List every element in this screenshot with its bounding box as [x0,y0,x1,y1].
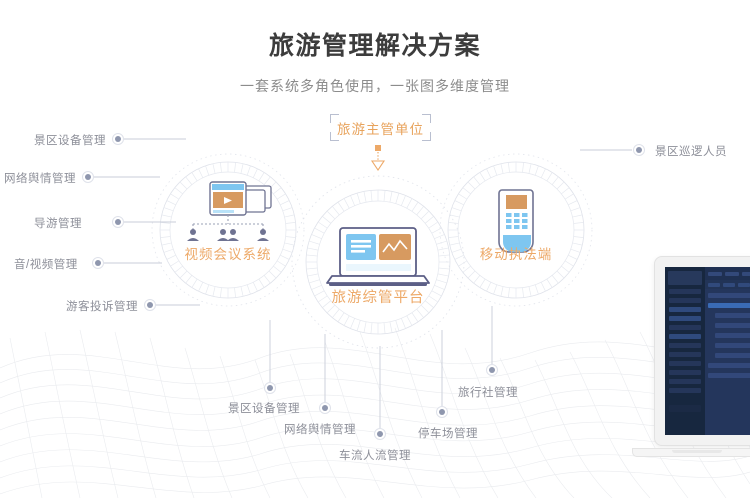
tree-row[interactable] [708,373,750,378]
dashboard-logo [668,271,702,285]
laptop-dashboard-icon [327,228,429,286]
dashboard-body [705,289,750,435]
bottom-connectors [270,306,492,428]
dashboard-menu-item[interactable] [669,379,701,384]
dashboard-filter-bar [705,280,750,289]
spoke-bottom-3[interactable]: 车流人流管理 [339,447,411,463]
dashboard-menu-item[interactable] [669,316,701,321]
dashboard-screenshot [665,267,750,435]
spoke-bottom-1[interactable]: 景区设备管理 [228,400,300,416]
node-label-video-conference: 视频会议系统 [163,243,293,263]
spoke-left-1[interactable]: 景区设备管理 [34,132,106,148]
right-connectors [580,145,645,156]
spoke-left-4[interactable]: 音/视频管理 [14,256,78,272]
dashboard-menu-item[interactable] [669,334,701,339]
dashboard-main [705,267,750,435]
left-connectors [94,139,200,305]
tree-row[interactable] [715,323,750,328]
gov-to-platform-arrow [372,145,384,170]
spoke-bottom-4[interactable]: 停车场管理 [418,425,478,441]
tree-row[interactable] [715,313,750,318]
laptop-trackpad-notch [672,450,722,453]
video-conference-icon [187,182,271,241]
dashboard-menu-item[interactable] [669,370,701,375]
dashboard-sidebar [665,267,705,435]
dashboard-filter-chip[interactable] [738,283,750,287]
dashboard-menu-item[interactable] [669,361,701,366]
spoke-left-3[interactable]: 导游管理 [34,215,82,231]
laptop-mockup [632,256,750,486]
gov-unit-label: 旅游主管单位 [330,114,431,141]
node-label-tourism-platform: 旅游综管平台 [313,286,443,307]
tree-row[interactable] [708,303,750,308]
dashboard-menu-item[interactable] [669,388,701,393]
laptop-lid [654,256,750,446]
node-label-mobile-enforcement: 移动执法端 [451,243,581,263]
solution-diagram-page: 旅游管理解决方案 一套系统多角色使用，一张图多维度管理 [0,0,750,498]
page-subtitle: 一套系统多角色使用，一张图多维度管理 [0,76,750,96]
tree-row[interactable] [715,333,750,338]
gov-unit-box: 旅游主管单位 [330,114,431,141]
spoke-bottom-5[interactable]: 旅行社管理 [458,384,518,400]
spoke-right-1[interactable]: 景区巡逻人员 [655,143,727,159]
dashboard-topbar [705,267,750,280]
dashboard-tab[interactable] [725,272,739,276]
dashboard-tab[interactable] [708,272,722,276]
tree-row[interactable] [708,293,750,298]
tree-row[interactable] [708,363,750,368]
dashboard-menu-item[interactable] [669,298,701,303]
dashboard-menu-item[interactable] [669,307,701,312]
dashboard-menu-item[interactable] [669,289,701,294]
page-title: 旅游管理解决方案 [0,26,750,62]
dashboard-tab[interactable] [742,272,750,276]
tree-row[interactable] [715,353,750,358]
spoke-bottom-2[interactable]: 网络舆情管理 [284,421,356,437]
dashboard-menu-item[interactable] [669,325,701,330]
spoke-left-2[interactable]: 网络舆情管理 [4,170,76,186]
page-header: 旅游管理解决方案 一套系统多角色使用，一张图多维度管理 [0,0,750,96]
dashboard-filter-chip[interactable] [723,283,735,287]
dashboard-tree [705,289,750,435]
tree-row[interactable] [715,343,750,348]
dashboard-filter-chip[interactable] [708,283,720,287]
ring-video-conference [152,154,304,306]
spoke-left-5[interactable]: 游客投诉管理 [66,298,138,314]
dashboard-sidebar-footer [669,405,701,412]
dashboard-menu-item[interactable] [669,343,701,348]
dashboard-menu-item[interactable] [669,352,701,357]
